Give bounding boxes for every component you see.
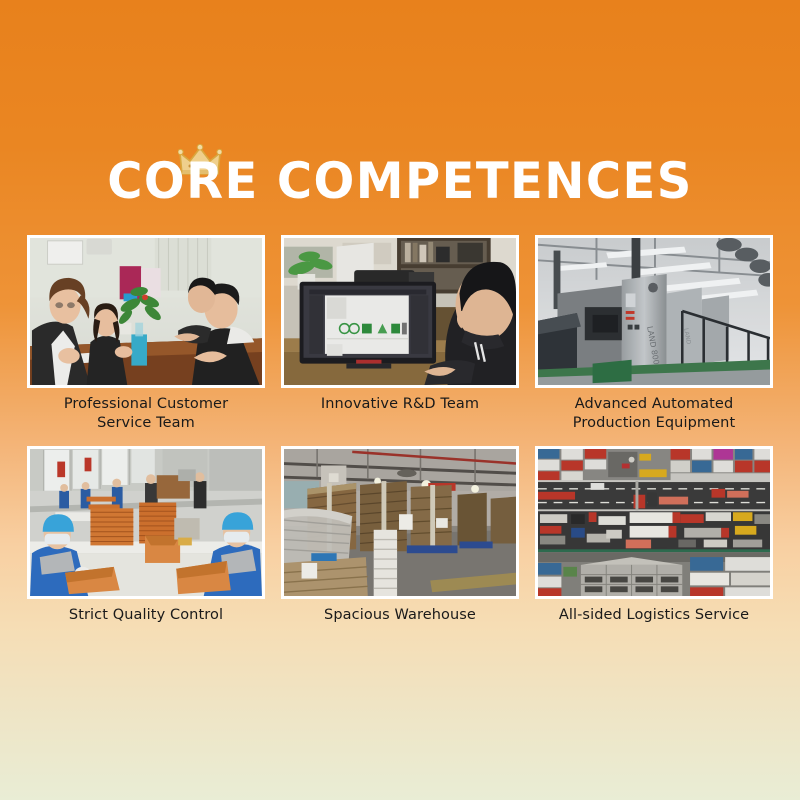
title-block: CORE COMPETENCES: [0, 152, 800, 210]
card-innovative-rd-team[interactable]: Innovative R&D Team: [281, 235, 519, 433]
page-title: CORE COMPETENCES: [107, 152, 693, 210]
caption-line-1: Professional Customer: [64, 396, 228, 412]
workers-inspecting-boxes-photo[interactable]: [27, 446, 265, 599]
card-caption: Strict Quality Control: [27, 606, 265, 625]
aerial-container-yard-photo[interactable]: [535, 446, 773, 599]
card-professional-customer-service-team[interactable]: Professional Customer Service Team: [27, 235, 265, 433]
grid-row-top: Professional Customer Service Team: [27, 235, 773, 433]
card-strict-quality-control[interactable]: Strict Quality Control: [27, 446, 265, 625]
grid-row-bottom: Strict Quality Control: [27, 446, 773, 625]
caption-line-2: Service Team: [27, 414, 265, 433]
card-caption: Professional Customer Service Team: [27, 395, 265, 433]
office-meeting-photo[interactable]: [27, 235, 265, 388]
warehouse-pallets-photo[interactable]: [281, 446, 519, 599]
competences-grid: Professional Customer Service Team: [27, 235, 773, 625]
card-advanced-automated-production-equipment[interactable]: LAND 800 LAND: [535, 235, 773, 433]
caption-line-2: Production Equipment: [535, 414, 773, 433]
card-caption: Innovative R&D Team: [281, 395, 519, 414]
caption-line-1: All-sided Logistics Service: [559, 607, 749, 623]
card-spacious-warehouse[interactable]: Spacious Warehouse: [281, 446, 519, 625]
card-caption: All-sided Logistics Service: [535, 606, 773, 625]
caption-line-1: Advanced Automated: [575, 396, 734, 412]
caption-line-1: Strict Quality Control: [69, 607, 223, 623]
card-all-sided-logistics-service[interactable]: All-sided Logistics Service: [535, 446, 773, 625]
core-competences-poster: CORE COMPETENCES: [0, 0, 800, 800]
card-caption: Spacious Warehouse: [281, 606, 519, 625]
caption-line-1: Innovative R&D Team: [321, 396, 479, 412]
caption-line-1: Spacious Warehouse: [324, 607, 476, 623]
printing-press-machinery-photo[interactable]: LAND 800 LAND: [535, 235, 773, 388]
card-caption: Advanced Automated Production Equipment: [535, 395, 773, 433]
designer-at-computer-photo[interactable]: [281, 235, 519, 388]
